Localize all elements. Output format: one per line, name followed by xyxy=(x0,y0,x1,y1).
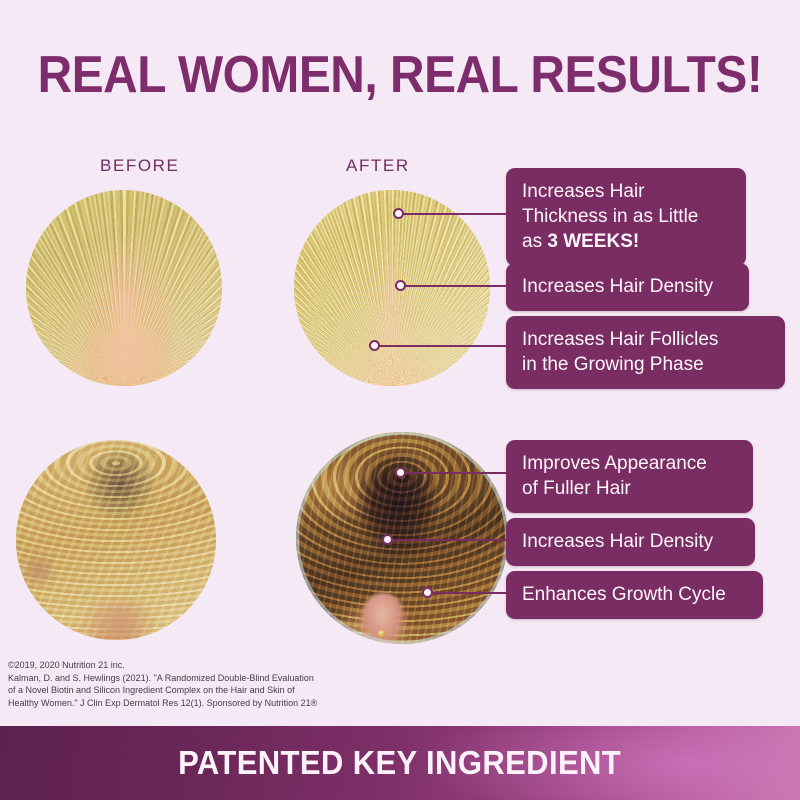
photo-bl-neck-skin xyxy=(84,600,156,640)
bottom-banner: PATENTED KEY INGREDIENT xyxy=(0,726,800,800)
callout-dot-2 xyxy=(395,280,406,291)
callout-increases-hair-density-bottom[interactable]: Increases Hair Density xyxy=(506,518,755,566)
photo-br-rim-light xyxy=(296,432,508,644)
connector-line-2 xyxy=(401,285,507,287)
fineprint-line-2: Kalman, D. and S. Hewlings (2021). "A Ra… xyxy=(8,672,408,685)
callout-1-line-2: Thickness in as Little xyxy=(522,206,698,227)
photo-after-scalp-top-view xyxy=(294,190,490,386)
connector-line-1 xyxy=(399,213,507,215)
fineprint-line-4: Healthy Women." J Clin Exp Dermatol Res … xyxy=(8,697,408,710)
callout-1-line-3-prefix: as xyxy=(522,231,547,252)
banner-title: PATENTED KEY INGREDIENT xyxy=(179,744,622,782)
connector-line-6 xyxy=(428,592,507,594)
fineprint-line-1: ©2019, 2020 Nutrition 21 inc. xyxy=(8,659,408,672)
callout-dot-1 xyxy=(393,208,404,219)
photo-before-scalp-highlight xyxy=(85,335,171,386)
page-title: REAL WOMEN, REAL RESULTS! xyxy=(32,46,768,104)
callout-dot-4 xyxy=(395,467,406,478)
callout-increases-hair-follicles[interactable]: Increases Hair Follicles in the Growing … xyxy=(506,316,785,389)
callout-dot-5 xyxy=(382,534,393,545)
callout-3-line-2: in the Growing Phase xyxy=(522,354,704,375)
photo-before-back-of-head xyxy=(16,440,216,640)
photo-bl-ear xyxy=(20,552,52,588)
infographic-poster: REAL WOMEN, REAL RESULTS! BEFORE AFTER xyxy=(0,0,800,800)
callout-4-line-1: Improves Appearance xyxy=(522,453,707,474)
connector-line-5 xyxy=(388,539,507,541)
callout-6-line-1: Enhances Growth Cycle xyxy=(522,584,726,605)
photo-before-scalp-top-view xyxy=(26,190,222,386)
callout-improves-appearance-fuller-hair[interactable]: Improves Appearance of Fuller Hair xyxy=(506,440,753,513)
callout-enhances-growth-cycle[interactable]: Enhances Growth Cycle xyxy=(506,571,763,619)
after-label: AFTER xyxy=(346,156,410,176)
fineprint-citation: ©2019, 2020 Nutrition 21 inc. Kalman, D.… xyxy=(8,659,408,709)
callout-2-line-1: Increases Hair Density xyxy=(522,276,713,297)
callout-increases-hair-thickness[interactable]: Increases Hair Thickness in as Little as… xyxy=(506,168,746,266)
callout-increases-hair-density-top[interactable]: Increases Hair Density xyxy=(506,263,749,311)
fineprint-line-3: of a Novel Biotin and Silicon Ingredient… xyxy=(8,684,408,697)
callout-5-line-1: Increases Hair Density xyxy=(522,531,713,552)
callout-dot-6 xyxy=(422,587,433,598)
callout-dot-3 xyxy=(369,340,380,351)
connector-line-3 xyxy=(375,345,507,347)
callout-3-line-1: Increases Hair Follicles xyxy=(522,329,718,350)
connector-line-4 xyxy=(401,472,507,474)
callout-1-line-3-bold: 3 WEEKS! xyxy=(547,231,639,252)
before-label: BEFORE xyxy=(100,156,180,176)
callout-4-line-2: of Fuller Hair xyxy=(522,478,631,499)
callout-1-line-1: Increases Hair xyxy=(522,181,645,202)
photo-after-back-of-head xyxy=(296,432,508,644)
